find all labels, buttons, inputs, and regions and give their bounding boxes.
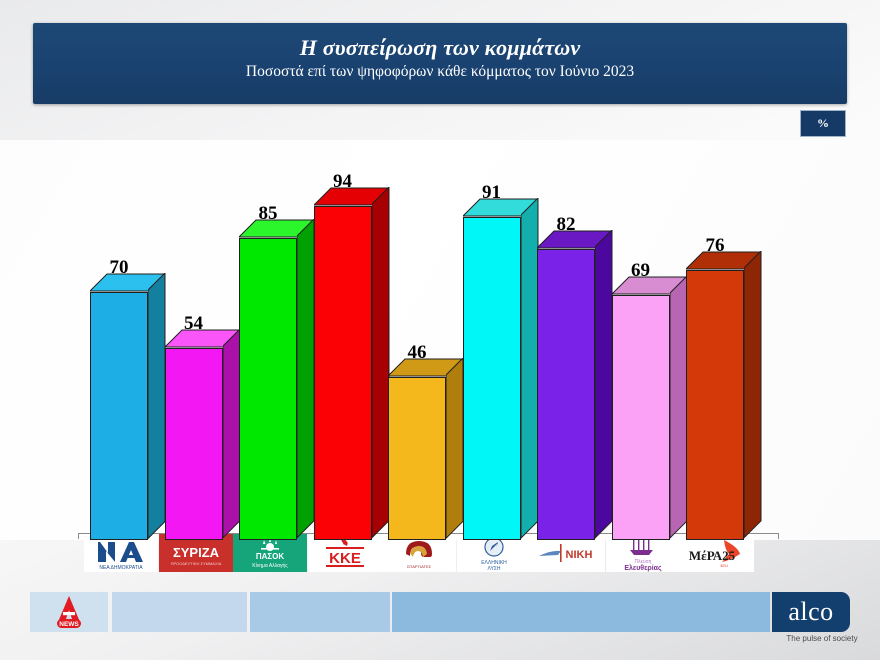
alco-logo: alco [772, 592, 850, 632]
bar-value-label: 82 [537, 214, 595, 236]
chart-plot-area: 705485944691826976 [0, 140, 880, 540]
page-subtitle: Ποσοστά επί των ψηφοφόρων κάθε κόμματος … [33, 60, 847, 81]
bar-2[interactable]: 54 [165, 326, 223, 540]
bars-layer: 705485944691826976 [0, 140, 880, 540]
bar-9[interactable]: 76 [686, 248, 744, 540]
svg-text:Πλεύση: Πλεύση [634, 558, 651, 565]
bar-5[interactable]: 46 [388, 355, 446, 540]
svg-text:Ελευθερίας: Ελευθερίας [624, 564, 662, 572]
bar-front-face[interactable] [612, 295, 670, 540]
bar-front-face[interactable] [314, 206, 372, 540]
svg-text:ΝΙΚΗ: ΝΙΚΗ [566, 549, 593, 561]
svg-text:ΠΑΣΟΚ: ΠΑΣΟΚ [256, 552, 285, 561]
bar-front-face[interactable] [686, 270, 744, 540]
bar-4[interactable]: 94 [314, 184, 372, 540]
bar-6[interactable]: 91 [463, 195, 521, 540]
bar-value-label: 94 [314, 171, 372, 193]
category-logo-strip: ΝΕΑ ΔΗΜΟΚΡΑΤΙΑΣΥΡΙΖΑΠΡΟΟΔΕΥΤΙΚΗ ΣΥΜΜΑΧΙΑ… [78, 534, 778, 574]
bar-front-face[interactable] [537, 249, 595, 540]
svg-text:Κίνημα Αλλαγής: Κίνημα Αλλαγής [252, 562, 288, 569]
svg-text:ΣΠΑΡΤΙΑΤΕΣ: ΣΠΑΡΤΙΑΤΕΣ [407, 564, 432, 569]
bar-value-label: 85 [239, 203, 297, 225]
bar-front-face[interactable] [90, 292, 148, 541]
bar-value-label: 91 [463, 182, 521, 204]
bar-value-label: 76 [686, 235, 744, 257]
bar-value-label: 70 [90, 257, 148, 279]
svg-text:4EU: 4EU [720, 563, 728, 568]
page-title: Η συσπείρωση των κομμάτων [33, 23, 847, 60]
svg-text:ΚΚΕ: ΚΚΕ [329, 550, 361, 567]
footer-segment-4 [392, 592, 770, 632]
alco-tagline: The pulse of society [772, 634, 872, 643]
title-banner: Η συσπείρωση των κομμάτων Ποσοστά επί τω… [33, 23, 847, 104]
unit-badge: % [800, 110, 846, 137]
bar-front-face[interactable] [388, 377, 446, 540]
bar-1[interactable]: 70 [90, 270, 148, 541]
bar-7[interactable]: 82 [537, 227, 595, 540]
svg-text:ΝΕΑ ΔΗΜΟΚΡΑΤΙΑ: ΝΕΑ ΔΗΜΟΚΡΑΤΙΑ [99, 565, 143, 571]
bar-3[interactable]: 85 [239, 216, 297, 540]
bar-front-face[interactable] [463, 217, 521, 540]
bar-side-face [744, 251, 763, 540]
alpha-news-logo: NEWS [44, 594, 94, 630]
svg-text:ΠΡΟΟΔΕΥΤΙΚΗ ΣΥΜΜΑΧΙΑ: ΠΡΟΟΔΕΥΤΙΚΗ ΣΥΜΜΑΧΙΑ [170, 561, 221, 566]
svg-text:NEWS: NEWS [59, 621, 79, 628]
footer-segment-2 [112, 592, 247, 632]
svg-text:ΛΥΣΗ: ΛΥΣΗ [487, 566, 500, 572]
svg-text:ΜέΡΑ25: ΜέΡΑ25 [689, 548, 736, 563]
footer-bar: NEWS alco The pulse of society [0, 592, 880, 660]
slide-canvas: Η συσπείρωση των κομμάτων Ποσοστά επί τω… [0, 0, 880, 660]
axis-tick [778, 533, 779, 539]
footer-segment-3 [250, 592, 390, 632]
bar-front-face[interactable] [165, 348, 223, 540]
bar-value-label: 46 [388, 342, 446, 364]
bar-value-label: 69 [612, 260, 670, 282]
bar-value-label: 54 [165, 313, 223, 335]
svg-text:ΣΥΡΙΖΑ: ΣΥΡΙΖΑ [172, 545, 219, 560]
bar-front-face[interactable] [239, 238, 297, 540]
bar-8[interactable]: 69 [612, 273, 670, 540]
